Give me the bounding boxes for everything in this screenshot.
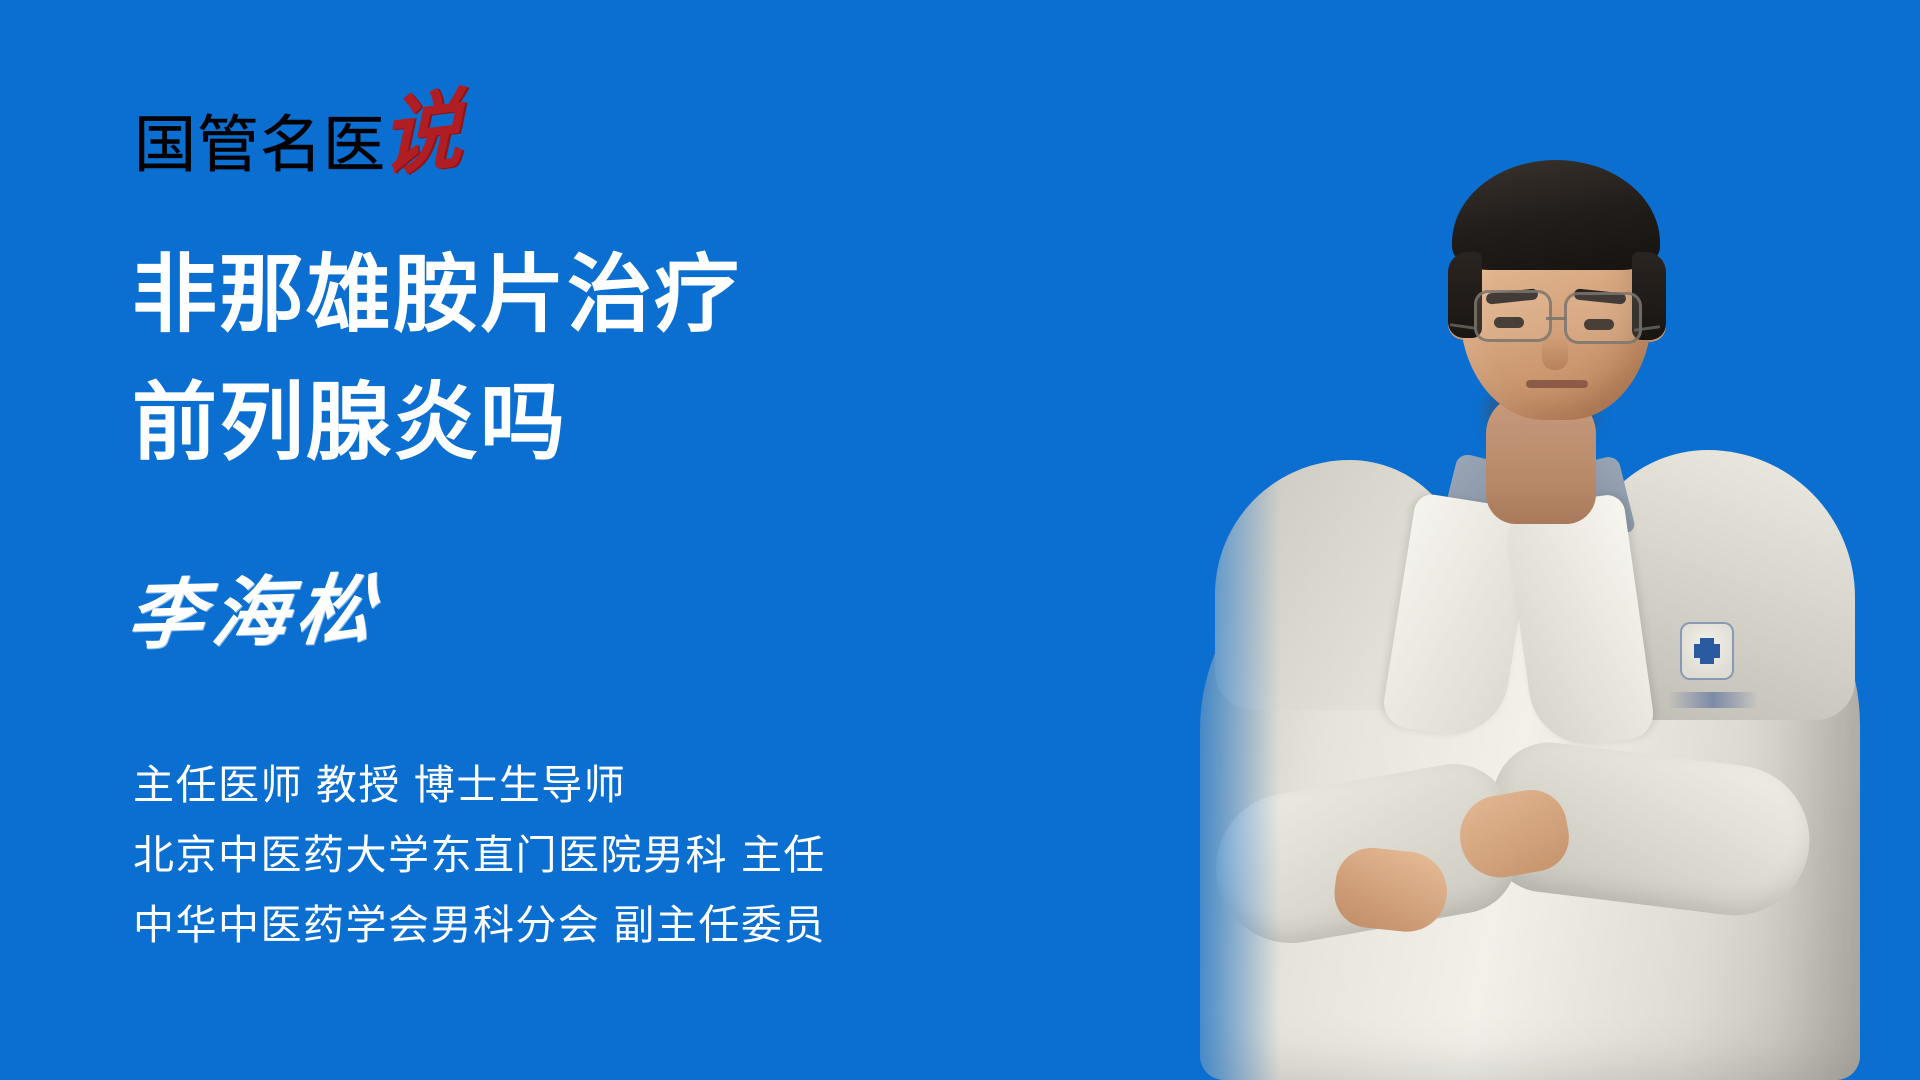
credential-line-2: 北京中医药大学东直门医院男科 主任 [133, 820, 1113, 890]
poster-canvas: 国管名医 说 非那雄胺片治疗 前列腺炎吗 李海松 主任医师 教授 博士生导师 北… [0, 0, 1920, 1080]
glasses-lens-right [1564, 292, 1642, 344]
headline: 非那雄胺片治疗 前列腺炎吗 [132, 232, 1072, 488]
credential-line-1: 主任医师 教授 博士生导师 [133, 750, 1113, 820]
glasses-lens-left [1474, 290, 1552, 342]
brand-logo-text: 国管名医 [134, 115, 386, 177]
brand-logo: 国管名医 说 [134, 95, 478, 177]
hair [1452, 160, 1660, 270]
doctor-portrait [1160, 70, 1920, 1080]
nose [1542, 336, 1568, 370]
badge-caption [1668, 692, 1758, 708]
headline-line-2: 前列腺炎吗 [132, 360, 1072, 488]
brand-logo-red-wrap: 说 [382, 91, 478, 177]
headline-line-1: 非那雄胺片治疗 [132, 232, 1072, 360]
glasses-bridge [1546, 317, 1566, 320]
portrait-edge-fade [1160, 70, 1280, 1080]
doctor-name: 李海松 [124, 571, 384, 654]
doctor-credentials: 主任医师 教授 博士生导师 北京中医药大学东直门医院男科 主任 中华中医药学会男… [133, 750, 1113, 960]
credential-line-3: 中华中医药学会男科分会 副主任委员 [133, 890, 1113, 960]
badge-cross-horizontal-icon [1694, 644, 1720, 658]
mouth [1526, 380, 1588, 388]
brand-logo-accent-text: 说 [381, 87, 463, 183]
